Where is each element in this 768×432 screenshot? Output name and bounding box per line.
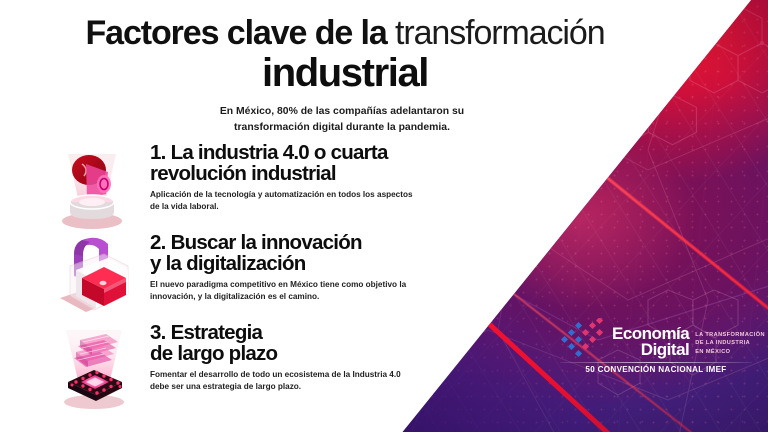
- headline-line-1: Factores clave de la transformación: [42, 16, 648, 50]
- logo-tagline-line-1: LA TRANSFORMACIÓN: [695, 331, 765, 340]
- item-description: El nuevo paradigma competitivo en México…: [150, 279, 422, 303]
- logo-tagline: LA TRANSFORMACIÓN DE LA INDUSTRIA EN MÉX…: [695, 331, 765, 357]
- item-title-line-1: Estrategia: [171, 321, 263, 344]
- item-title: 2. Buscar la innovación y la digitalizac…: [150, 232, 466, 274]
- item-number: 2.: [150, 231, 166, 254]
- pixel-diamond-icon: [560, 318, 606, 358]
- item-title-line-1: Buscar la innovación: [171, 231, 362, 254]
- item-number: 1.: [150, 141, 166, 164]
- subtitle-text: En México, 80% de las compañías adelanta…: [184, 104, 500, 136]
- logo-name-line-2: Digital: [612, 342, 689, 359]
- item-title-line-1: La industria 4.0 o cuarta: [171, 141, 388, 164]
- logo-tagline-line-2: DE LA INDUSTRIA: [695, 339, 765, 348]
- microchip-hologram-icon: [46, 322, 142, 414]
- padlock-icon: [46, 232, 142, 324]
- economia-digital-logo: Economía Digital LA TRANSFORMACIÓN DE LA…: [560, 318, 752, 374]
- item-title-line-2: y la digitalización: [150, 252, 306, 275]
- page-title: Factores clave de la transformación indu…: [42, 16, 648, 93]
- logo-wordmark: Economía Digital: [612, 326, 689, 359]
- headline-bold-part: Factores clave de la: [85, 14, 386, 52]
- logo-tagline-line-3: EN MÉXICO: [695, 348, 765, 357]
- headline-line-2: industrial: [42, 53, 648, 93]
- list-item: 1. La industria 4.0 o cuarta revolución …: [46, 142, 466, 214]
- item-title-line-2: revolución industrial: [150, 162, 336, 185]
- list-item: 2. Buscar la innovación y la digitalizac…: [46, 232, 466, 304]
- item-title: 1. La industria 4.0 o cuarta revolución …: [150, 142, 466, 184]
- item-description: Aplicación de la tecnología y automatiza…: [150, 189, 422, 213]
- item-description: Fomentar el desarrollo de todo un ecosis…: [150, 369, 422, 393]
- item-title-line-2: de largo plazo: [150, 342, 277, 365]
- logo-divider: [560, 362, 752, 363]
- convention-label: 50 CONVENCIÓN NACIONAL IMEF: [560, 365, 752, 374]
- item-number: 3.: [150, 321, 166, 344]
- headline-light-part: transformación: [395, 14, 604, 52]
- list-item: 3. Estrategia de largo plazo Fomentar el…: [46, 322, 466, 394]
- hologram-projector-icon: [46, 142, 142, 234]
- item-title: 3. Estrategia de largo plazo: [150, 322, 466, 364]
